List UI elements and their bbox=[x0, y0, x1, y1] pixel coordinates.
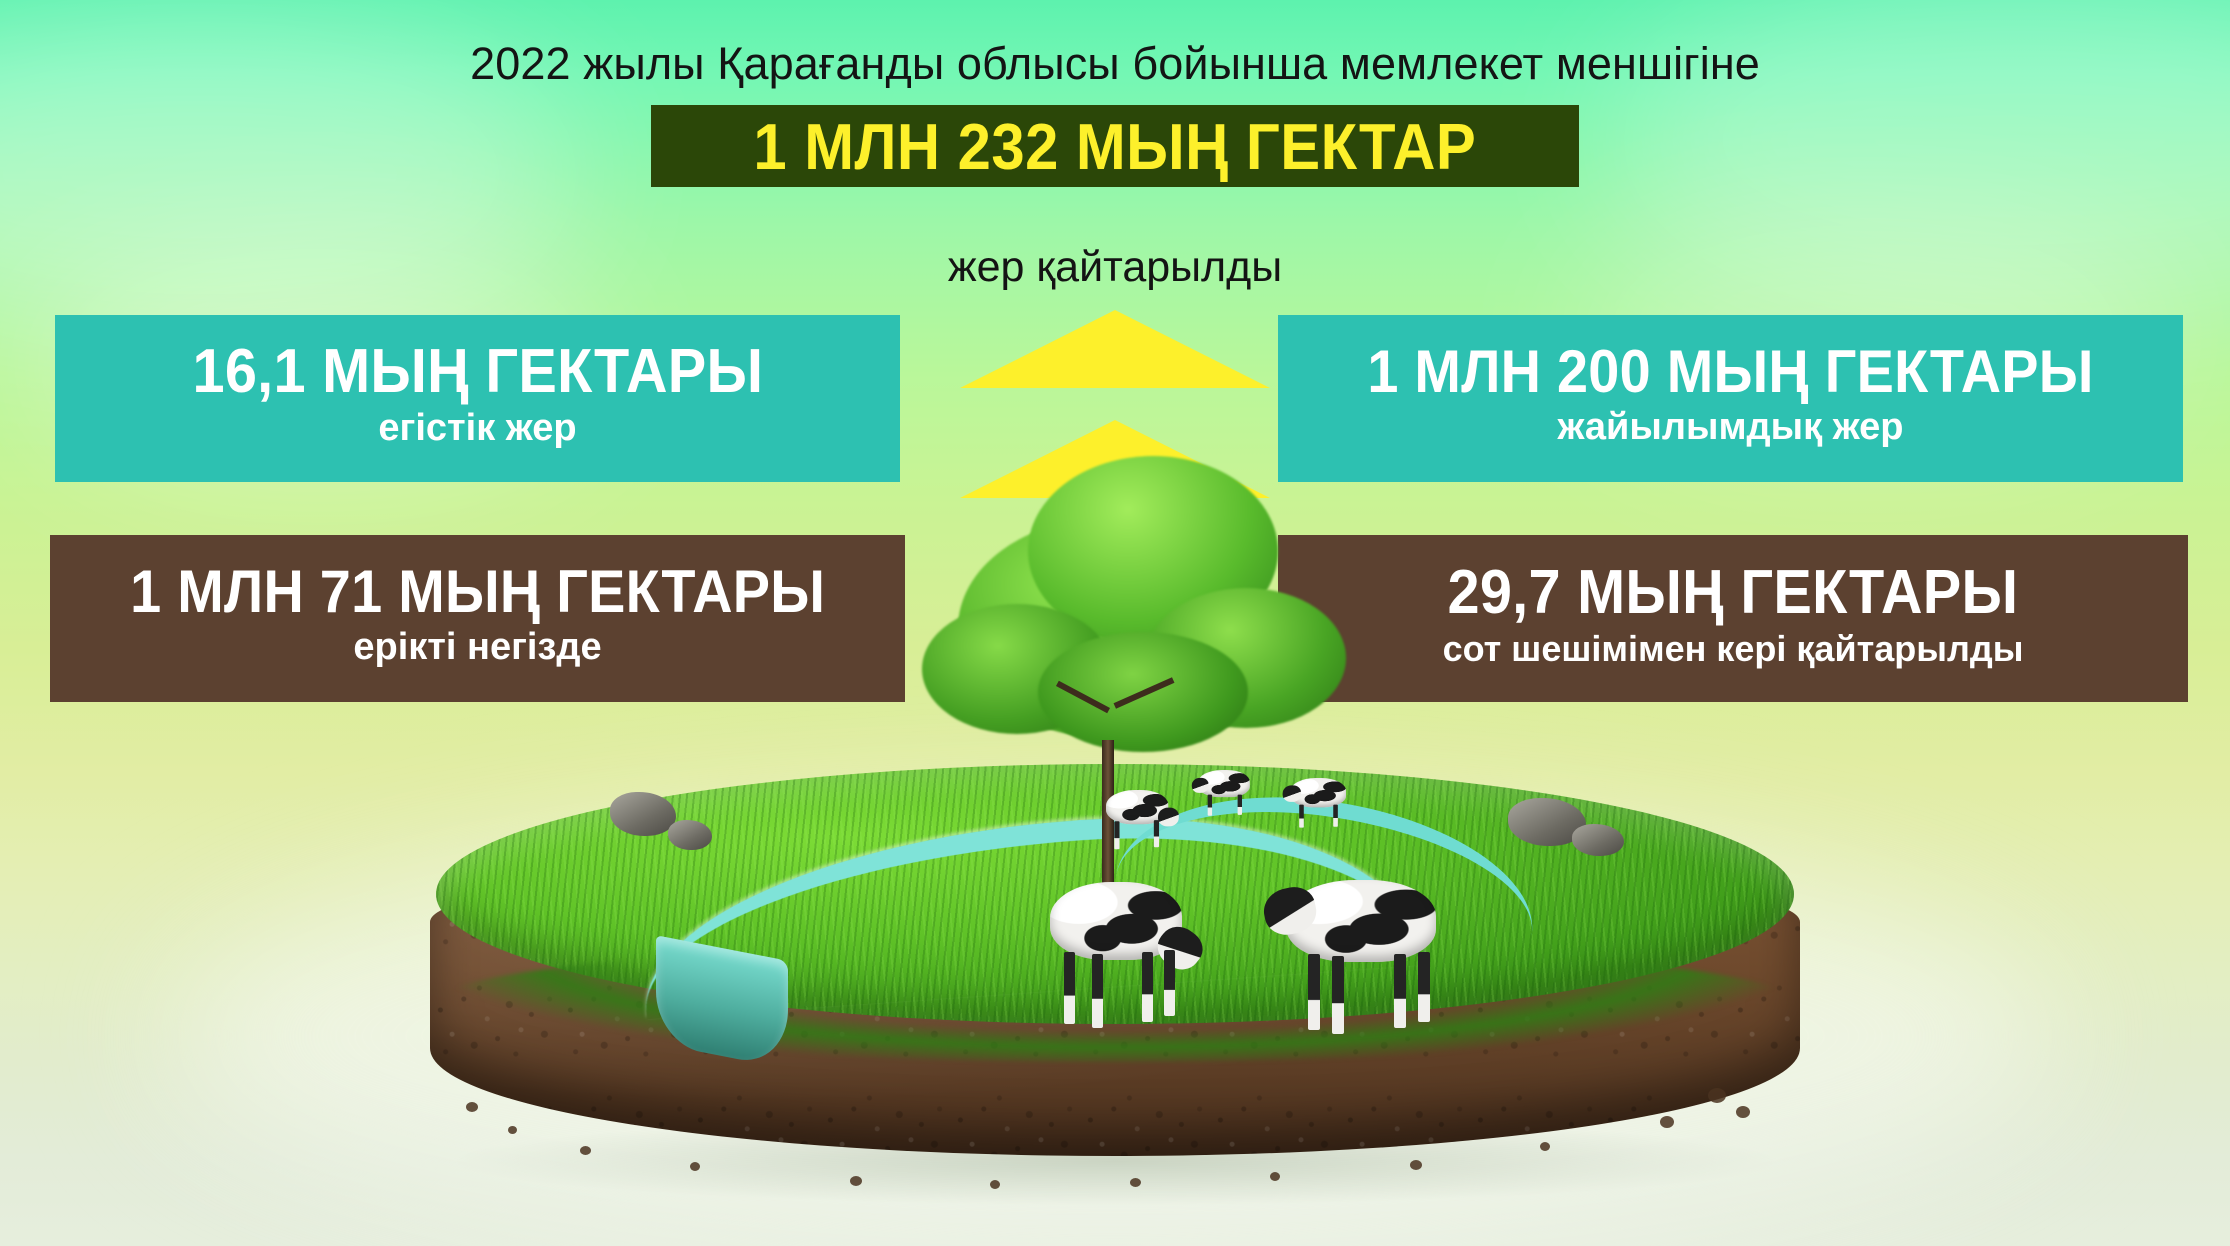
cow-leg bbox=[1333, 805, 1338, 827]
stat-box-voluntary: 1 МЛН 71 МЫҢ ГЕКТАРЫ ерікті негізде bbox=[50, 535, 905, 702]
cow-leg bbox=[1114, 821, 1119, 849]
pebble bbox=[1660, 1116, 1674, 1128]
cow-leg bbox=[1064, 952, 1075, 1024]
rock-left-small bbox=[668, 820, 712, 850]
poster-title: 2022 жылы Қарағанды облысы бойынша мемле… bbox=[0, 38, 2230, 90]
chevron-up-icon-top bbox=[960, 310, 1270, 388]
pebble bbox=[850, 1176, 862, 1186]
stat-box-pasture: 1 МЛН 200 МЫҢ ГЕКТАРЫ жайылымдық жер bbox=[1278, 315, 2183, 482]
pebble bbox=[1410, 1160, 1422, 1170]
stat-box-court: 29,7 МЫҢ ГЕКТАРЫ сот шешімімен кері қайт… bbox=[1278, 535, 2188, 702]
stat-value-court: 29,7 МЫҢ ГЕКТАРЫ bbox=[1448, 561, 2019, 624]
stat-label-cropland: егістік жер bbox=[378, 409, 576, 449]
pebble bbox=[508, 1126, 517, 1134]
stat-box-cropland: 16,1 МЫҢ ГЕКТАРЫ егістік жер bbox=[55, 315, 900, 482]
pebble bbox=[690, 1162, 700, 1171]
land-island-illustration bbox=[430, 764, 1800, 1194]
cow-leg bbox=[1238, 795, 1242, 815]
headline-subtitle: жер қайтарылды bbox=[0, 243, 2230, 292]
stat-label-pasture: жайылымдық жер bbox=[1558, 408, 1904, 448]
cow-leg bbox=[1092, 954, 1103, 1028]
infographic-poster: 2022 жылы Қарағанды облысы бойынша мемле… bbox=[0, 0, 2230, 1246]
cow-leg bbox=[1164, 950, 1175, 1016]
cow-leg bbox=[1142, 952, 1153, 1022]
headline-banner: 1 МЛН 232 МЫҢ ГЕКТАР bbox=[651, 105, 1579, 187]
pebble bbox=[990, 1180, 1000, 1189]
pebble bbox=[466, 1102, 478, 1112]
cow-leg bbox=[1394, 954, 1406, 1028]
stat-value-cropland: 16,1 МЫҢ ГЕКТАРЫ bbox=[192, 340, 763, 403]
cow-leg bbox=[1308, 954, 1320, 1030]
rock-right-small bbox=[1572, 824, 1624, 856]
pebble bbox=[1540, 1142, 1550, 1151]
pebble bbox=[1270, 1172, 1280, 1181]
cow-head bbox=[1283, 785, 1301, 802]
cow-leg bbox=[1332, 956, 1344, 1034]
cow-head bbox=[1192, 778, 1209, 793]
pebble bbox=[580, 1146, 591, 1155]
cow-head bbox=[1158, 808, 1179, 827]
headline-value: 1 МЛН 232 МЫҢ ГЕКТАР bbox=[754, 109, 1477, 184]
pebble bbox=[1130, 1178, 1141, 1187]
pebble bbox=[1736, 1106, 1750, 1118]
cow-leg bbox=[1418, 952, 1430, 1022]
cow-leg bbox=[1208, 795, 1212, 816]
stat-value-pasture: 1 МЛН 200 МЫҢ ГЕКТАРЫ bbox=[1367, 341, 2093, 402]
stat-value-voluntary: 1 МЛН 71 МЫҢ ГЕКТАРЫ bbox=[130, 561, 825, 622]
pebble bbox=[1708, 1088, 1726, 1103]
cow-leg bbox=[1154, 820, 1159, 847]
cow-leg bbox=[1299, 805, 1304, 828]
stat-label-court: сот шешімімен кері қайтарылды bbox=[1443, 630, 2024, 668]
stat-label-voluntary: ерікті негізде bbox=[353, 628, 601, 668]
